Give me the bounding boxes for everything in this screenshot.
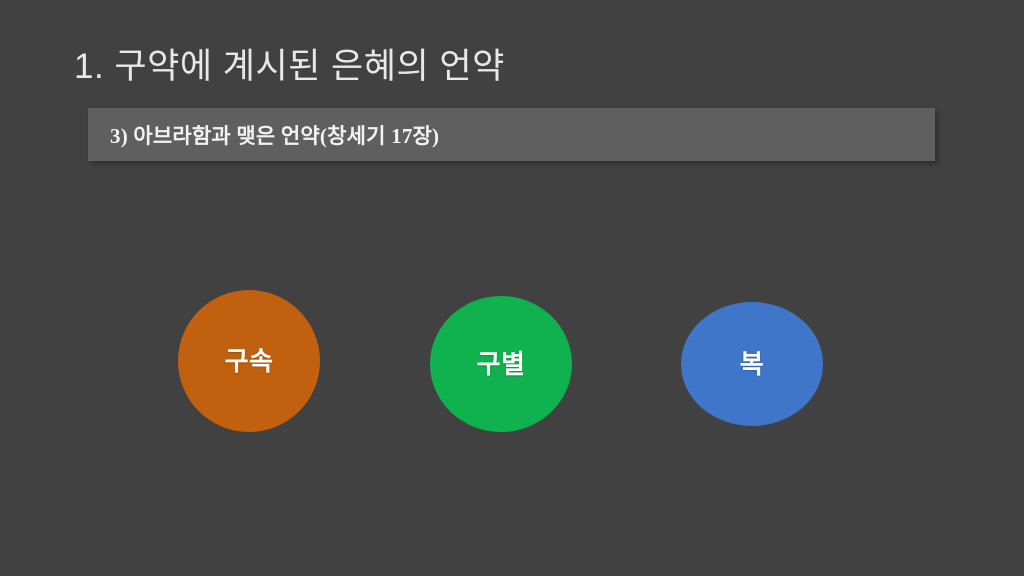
- concept-circle-redemption: 구속: [178, 290, 320, 432]
- page-title: 1. 구약에 계시된 은혜의 언약: [74, 44, 505, 90]
- concept-circle-separation: 구별: [430, 296, 572, 432]
- concept-circle-label: 구속: [225, 348, 274, 374]
- presentation-slide: 1. 구약에 계시된 은혜의 언약 3) 아브라함과 맺은 언약(창세기 17장…: [0, 0, 1024, 576]
- concept-circle-label: 복: [740, 351, 764, 377]
- subtitle-banner: 3) 아브라함과 맺은 언약(창세기 17장): [88, 108, 935, 161]
- concept-circle-blessing: 복: [681, 302, 823, 426]
- concept-circle-label: 구별: [477, 351, 526, 377]
- subtitle-text: 3) 아브라함과 맺은 언약(창세기 17장): [110, 120, 439, 150]
